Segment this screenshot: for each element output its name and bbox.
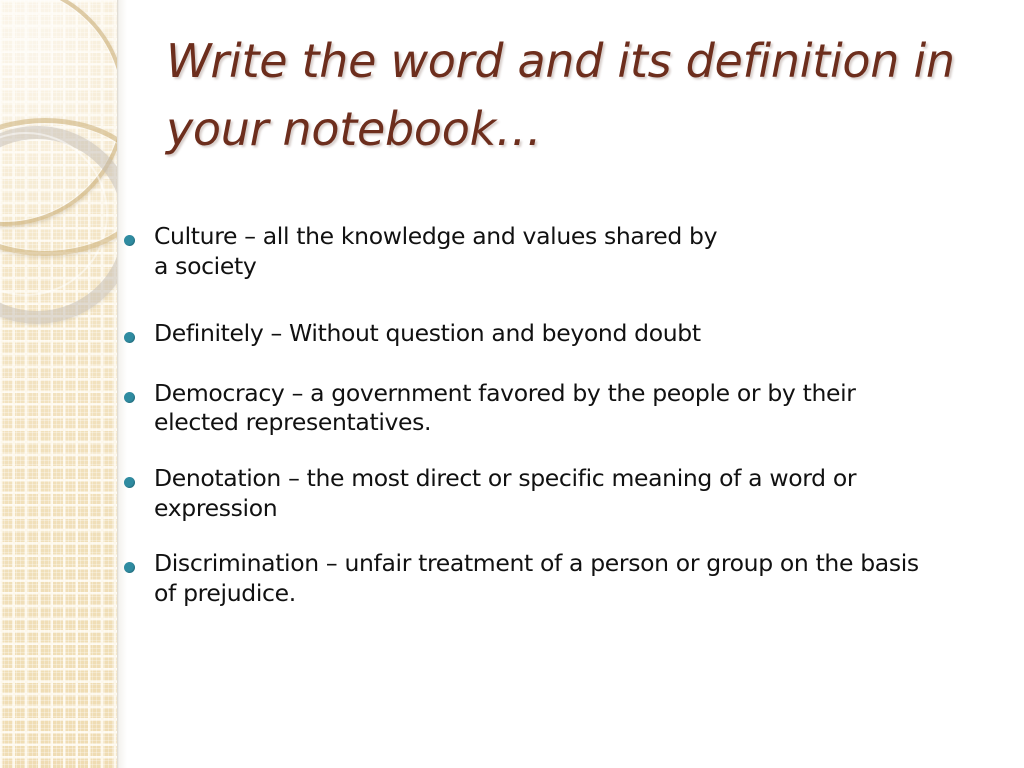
bullet-dot-icon [124,562,135,573]
list-item: Discrimination – unfair treatment of a p… [124,549,1016,608]
list-item: Denotation – the most direct or specific… [124,464,1016,523]
list-item-text: Culture – all the knowledge and values s… [154,222,1016,281]
slide-canvas: Write the word and its definition in you… [0,0,1024,768]
bullet-dot-icon [124,392,135,403]
bullet-dot-icon [124,332,135,343]
list-item-text: Democracy – a government favored by the … [154,379,1016,438]
slide-title: Write the word and its definition in you… [166,28,986,163]
list-item-text: Discrimination – unfair treatment of a p… [154,549,1016,608]
gray-ring-icon [0,126,117,324]
gray-ring-highlight-icon [0,132,108,296]
sidebar-light-wash [0,0,117,260]
decorative-sidebar [0,0,117,768]
list-item: Culture – all the knowledge and values s… [124,222,1016,281]
list-item-text: Definitely – Without question and beyond… [154,319,1016,349]
bullet-dot-icon [124,235,135,246]
bullet-dot-icon [124,477,135,488]
list-item: Democracy – a government favored by the … [124,379,1016,438]
gold-ring-large-icon [0,0,117,226]
list-item-text: Denotation – the most direct or specific… [154,464,1016,523]
bullet-list: Culture – all the knowledge and values s… [124,222,1016,608]
list-item: Definitely – Without question and beyond… [124,319,1016,349]
gold-ring-small-icon [0,118,117,256]
